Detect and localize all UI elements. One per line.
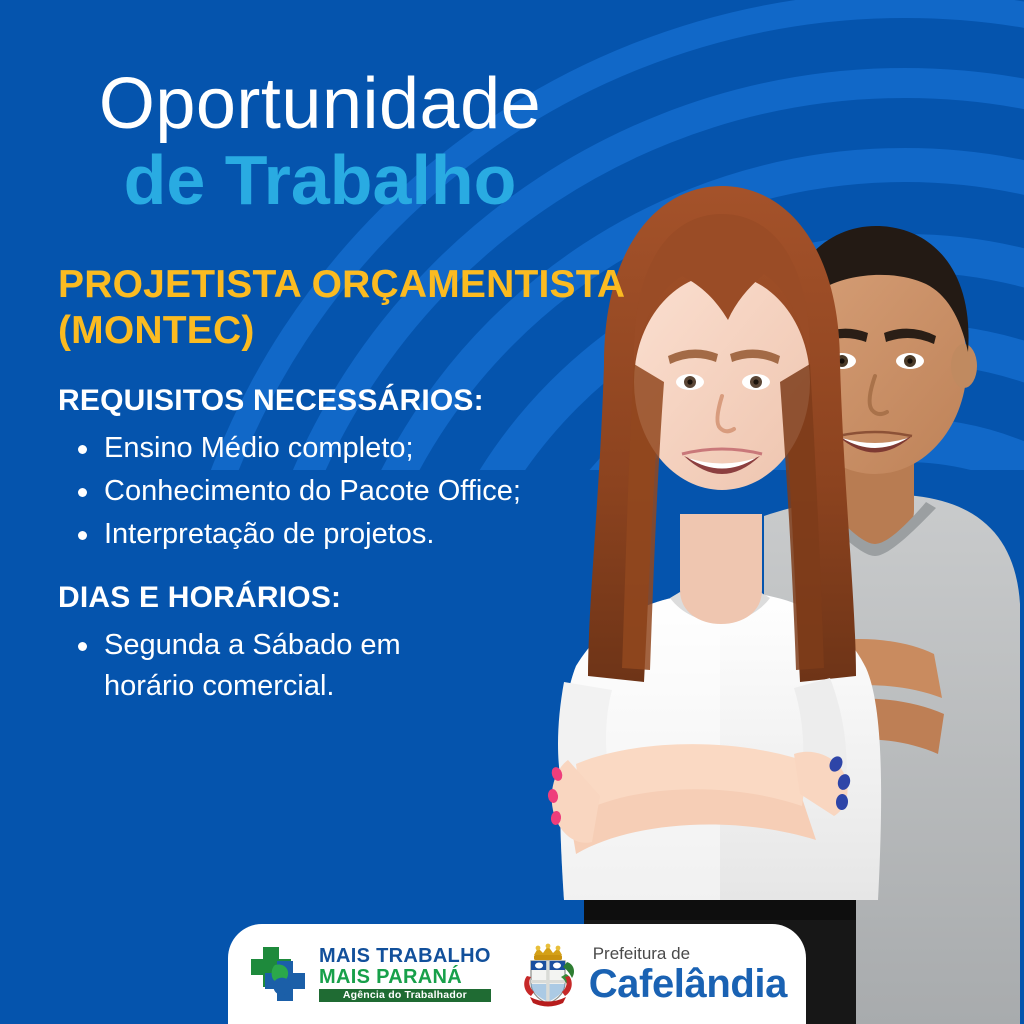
logo-prefeitura-cafelandia: Prefeitura de Cafelândia xyxy=(517,940,787,1008)
list-item: Interpretação de projetos. xyxy=(76,514,596,555)
city-coat-of-arms-icon xyxy=(517,940,579,1008)
poster-content: Oportunidade de Trabalho PROJETISTA ORÇA… xyxy=(0,0,700,733)
city-logo-words: Prefeitura de Cafelândia xyxy=(589,945,787,1004)
schedule-list: Segunda a Sábado em horário comercial. xyxy=(58,625,680,707)
job-title: PROJETISTA ORÇAMENTISTA (MONTEC) xyxy=(58,262,658,354)
footer-logo-bar: MAIS TRABALHO MAIS PARANÁ Agência do Tra… xyxy=(228,924,806,1024)
logo-mais-trabalho-mais-parana: MAIS TRABALHO MAIS PARANÁ Agência do Tra… xyxy=(247,943,491,1005)
job-opportunity-poster: Oportunidade de Trabalho PROJETISTA ORÇA… xyxy=(0,0,1024,1024)
list-item: Segunda a Sábado em horário comercial. xyxy=(76,625,456,707)
city-line-1: Prefeitura de xyxy=(593,945,787,962)
headline-block: Oportunidade de Trabalho xyxy=(0,0,700,218)
agency-line-2: MAIS PARANÁ xyxy=(319,967,491,987)
requirements-heading: REQUISITOS NECESSÁRIOS: xyxy=(58,384,680,418)
list-item: Conhecimento do Pacote Office; xyxy=(76,471,596,512)
cross-puzzle-icon xyxy=(247,943,313,1005)
city-line-2: Cafelândia xyxy=(589,964,787,1004)
schedule-heading: DIAS E HORÁRIOS: xyxy=(58,581,680,615)
list-item: Ensino Médio completo; xyxy=(76,428,596,469)
details-column: PROJETISTA ORÇAMENTISTA (MONTEC) REQUISI… xyxy=(0,262,700,708)
headline-line-2: de Trabalho xyxy=(0,144,640,218)
requirements-list: Ensino Médio completo; Conhecimento do P… xyxy=(58,428,680,556)
agency-logo-words: MAIS TRABALHO MAIS PARANÁ Agência do Tra… xyxy=(319,946,491,1003)
schedule-section: DIAS E HORÁRIOS: Segunda a Sábado em hor… xyxy=(58,581,680,707)
headline-line-1: Oportunidade xyxy=(0,68,640,140)
agency-line-1: MAIS TRABALHO xyxy=(319,946,491,966)
agency-tagline: Agência do Trabalhador xyxy=(319,989,491,1003)
requirements-section: REQUISITOS NECESSÁRIOS: Ensino Médio com… xyxy=(58,384,680,556)
